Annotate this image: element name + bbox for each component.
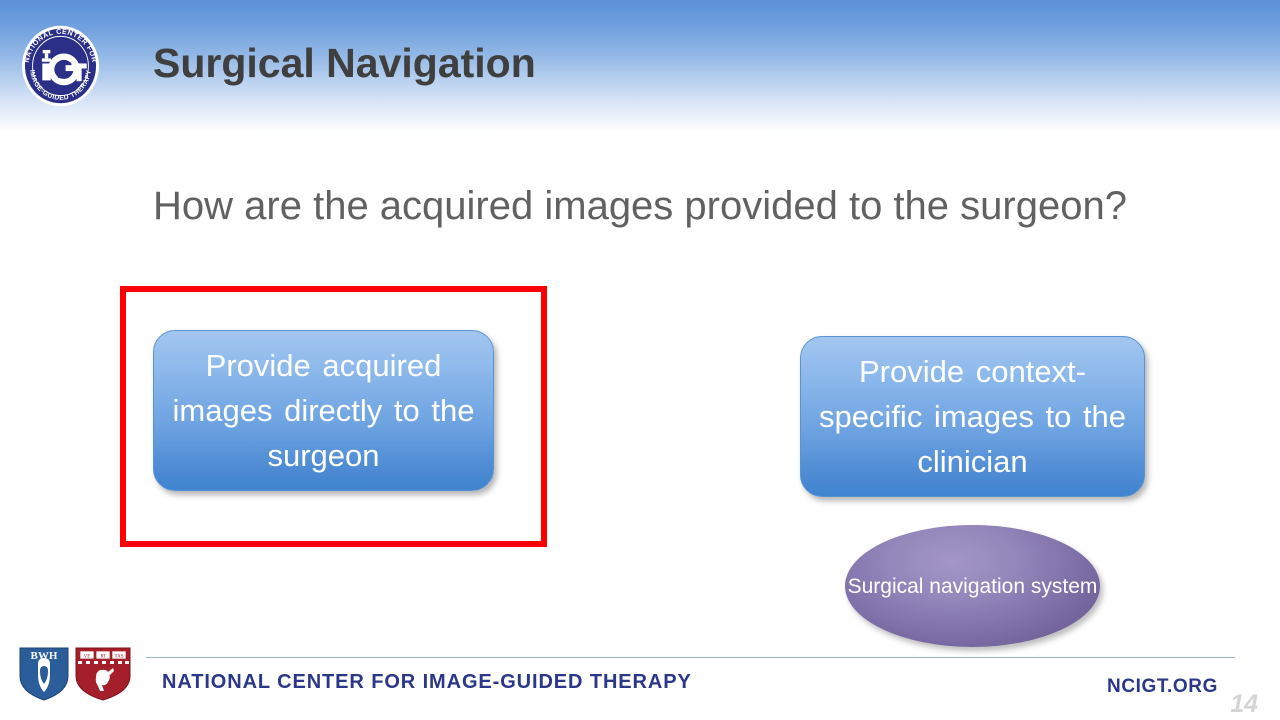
- footer-divider: [146, 657, 1235, 658]
- question-text: How are the acquired images provided to …: [140, 178, 1140, 234]
- process-box-label: Provide context-specific images to the c…: [801, 349, 1144, 484]
- page-title: Surgical Navigation: [153, 40, 536, 87]
- process-box-label: Provide acquired images directly to the …: [154, 343, 493, 478]
- footer-shield-logos: BWH VE RI TAS: [16, 646, 136, 702]
- footer-organization: NATIONAL CENTER FOR IMAGE-GUIDED THERAPY: [162, 671, 692, 694]
- presentation-slide: NATIONAL CENTER FOR IMAGE-GUIDED THERAPY…: [0, 0, 1280, 720]
- svg-text:BWH: BWH: [31, 650, 58, 662]
- ncigt-circle-logo: NATIONAL CENTER FOR IMAGE-GUIDED THERAPY: [18, 22, 103, 110]
- slide-number: 14: [1230, 690, 1258, 719]
- footer-url[interactable]: NCIGT.ORG: [1107, 676, 1218, 698]
- svg-text:RI: RI: [101, 655, 106, 660]
- process-box-provide-acquired-images[interactable]: Provide acquired images directly to the …: [153, 330, 494, 491]
- harvard-shield-icon: VE RI TAS: [76, 648, 130, 700]
- process-box-provide-context-specific-images[interactable]: Provide context-specific images to the c…: [800, 336, 1145, 497]
- surgical-navigation-system-ellipse[interactable]: Surgical navigation system: [845, 525, 1100, 647]
- ellipse-label: Surgical navigation system: [848, 572, 1098, 601]
- svg-text:VE: VE: [84, 655, 91, 660]
- bwh-shield-icon: BWH: [20, 648, 68, 700]
- svg-text:TAS: TAS: [114, 655, 123, 660]
